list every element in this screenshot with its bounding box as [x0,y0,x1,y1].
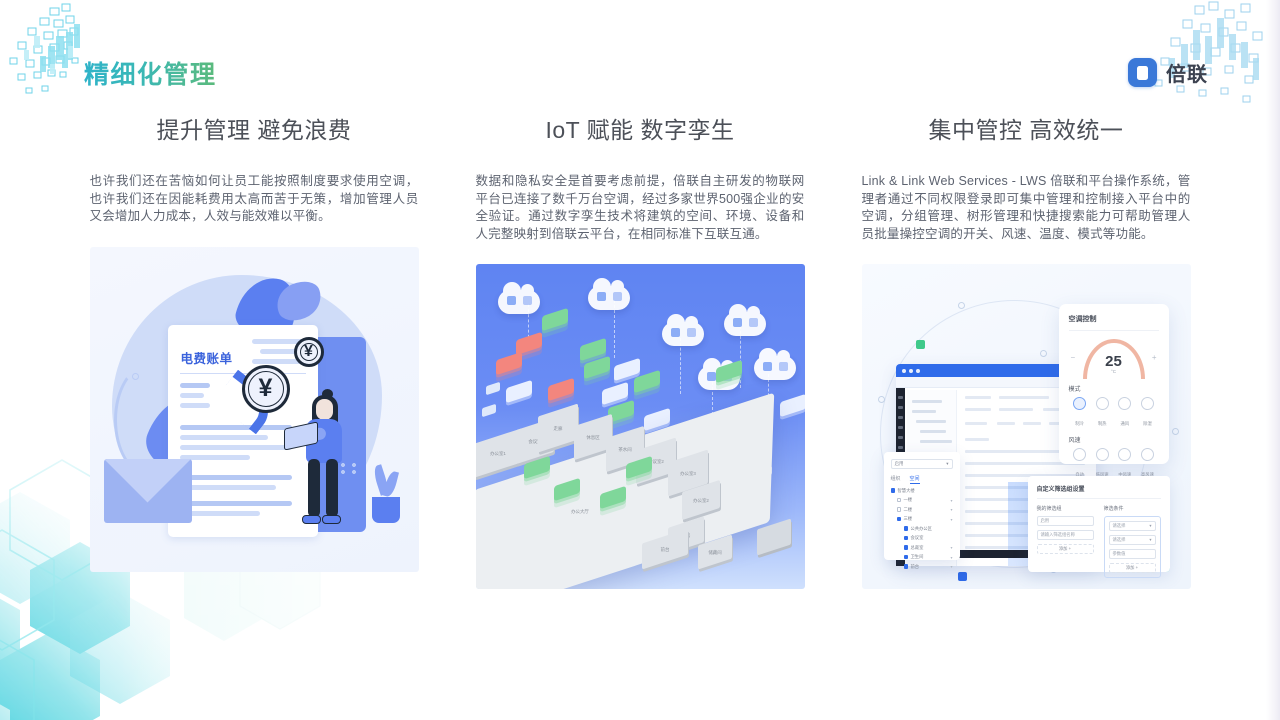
filter-name-placeholder-input[interactable]: 请输入筛选组名称 [1037,530,1094,540]
column-1-body: 也许我们还在苦恼如何让员工能按照制度要求使用空调，也许我们还在因能耗费用太高而苦… [90,173,419,226]
tree-item[interactable]: 会议室 [891,535,953,541]
column-3: 集中管控 高效统一 Link & Link Web Services - LWS… [862,108,1191,589]
room-block: 走廊 [538,404,578,453]
temp-decrease-button[interactable]: − [1071,353,1076,362]
cloud-icon [588,286,630,310]
temperature-value: 25 [1083,353,1145,370]
column-2-figure: 办公室1 会议室 走廊 休息区 茶水间 会议室2 办公室3 办公大厅 办公室2 … [476,264,805,589]
ac-control-panel: 空调控制 − + 25 °C 模式 制冷 制热 通风 除湿 风速 [1059,304,1169,464]
column-3-body: Link & Link Web Services - LWS 倍联和平台操作系统… [862,173,1191,243]
mode-section-label: 模式 [1069,384,1159,393]
space-tree-panel: 启用 ▾ 组织 空间 智慧大楼 一楼▾ 二楼▾ 三楼▾ 公共办公区 会议室 总裁… [884,452,960,560]
tree-item[interactable]: 一楼▾ [891,497,953,503]
fan-section-label: 风速 [1069,435,1159,444]
mode-option-dry[interactable]: 除湿 [1136,397,1158,430]
cloud-icon [662,322,704,346]
column-1-figure: 电费账单 ¥ ¥ [90,247,419,572]
column-2-body: 数据和隐私安全是首要考虑前提，倍联自主研发的物联网平台已连接了数千万台空调，经过… [476,173,805,243]
tab-space[interactable]: 空间 [910,475,920,484]
person-illustration [306,459,340,521]
brand-logo: 倍联 [1128,58,1208,87]
column-3-heading: 集中管控 高效统一 [862,108,1191,152]
temp-increase-button[interactable]: + [1152,353,1157,362]
chevron-down-icon: ▾ [946,461,948,467]
mode-option-cool[interactable]: 制冷 [1069,397,1091,430]
logo-mark-icon [1128,58,1157,87]
mode-option-heat[interactable]: 制热 [1091,397,1113,430]
envelope-icon [104,459,192,523]
tree-item[interactable]: 智慧大楼 [891,488,953,494]
brand-name: 倍联 [1166,58,1208,87]
tree-item[interactable]: 卫生间▾ [891,554,953,560]
room-block: 办公室1 [476,428,522,478]
pixel-grid-decoration-top-left [4,2,96,100]
filter-conditions-label: 筛选条件 [1104,505,1161,512]
tree-item[interactable]: 前台▾ [891,564,953,570]
page-title: 精细化管理 [84,55,217,91]
filter-settings-panel: 自定义筛选组设置 我的筛选组 启用 请输入筛选组名称 添加 + 筛选条件 请选择… [1028,476,1170,572]
tree-item[interactable]: 公共办公区 [891,526,953,532]
filter-name-input[interactable]: 启用 [1037,516,1094,526]
filter-conditions-column: 筛选条件 请选择▾ 请选择▾ 参数值 添加 + [1104,505,1161,578]
tab-organization[interactable]: 组织 [891,475,901,484]
condition-select-2[interactable]: 请选择▾ [1109,535,1156,545]
filter-panel-title: 自定义筛选组设置 [1037,484,1161,493]
mode-option-fan[interactable]: 通风 [1114,397,1136,430]
condition-value-input[interactable]: 参数值 [1109,549,1156,559]
column-2: IoT 赋能 数字孪生 数据和隐私安全是首要考虑前提，倍联自主研发的物联网平台已… [476,108,805,589]
tree-item[interactable]: 二楼▾ [891,507,953,513]
temperature-unit: °C [1083,369,1145,374]
bill-document-title: 电费账单 [181,348,233,367]
column-1-heading: 提升管理 避免浪费 [90,108,419,152]
cloud-icon [498,290,540,314]
column-3-figure: 空调控制 − + 25 °C 模式 制冷 制热 通风 除湿 风速 [862,264,1191,589]
add-filter-group-button[interactable]: 添加 + [1037,544,1094,554]
condition-select-1[interactable]: 请选择▾ [1109,521,1156,531]
column-2-heading: IoT 赋能 数字孪生 [476,108,805,152]
add-condition-button[interactable]: 添加 + [1109,563,1156,573]
plant-icon [372,497,400,523]
temperature-dial[interactable]: − + 25 °C [1083,339,1145,379]
tree-item[interactable]: 三楼▾ [891,516,953,522]
column-1: 提升管理 避免浪费 也许我们还在苦恼如何让员工能按照制度要求使用空调，也许我们还… [90,108,419,589]
cloud-icon [724,312,766,336]
cloud-icon [754,356,796,380]
my-filter-groups-label: 我的筛选组 [1037,505,1094,512]
tree-item[interactable]: 总裁室▾ [891,545,953,551]
mode-options: 制冷 制热 通风 除湿 [1069,397,1159,430]
status-select[interactable]: 启用 ▾ [891,459,953,469]
coin-small-icon: ¥ [294,337,324,367]
pixel-grid-decoration-top-right [1097,0,1272,108]
content-columns: 提升管理 避免浪费 也许我们还在苦恼如何让员工能按照制度要求使用空调，也许我们还… [0,108,1280,589]
my-filter-groups-column: 我的筛选组 启用 请输入筛选组名称 添加 + [1037,505,1094,578]
coin-large-icon: ¥ [242,365,290,413]
ac-panel-title: 空调控制 [1069,314,1159,324]
tree-tabs: 组织 空间 [891,475,953,484]
